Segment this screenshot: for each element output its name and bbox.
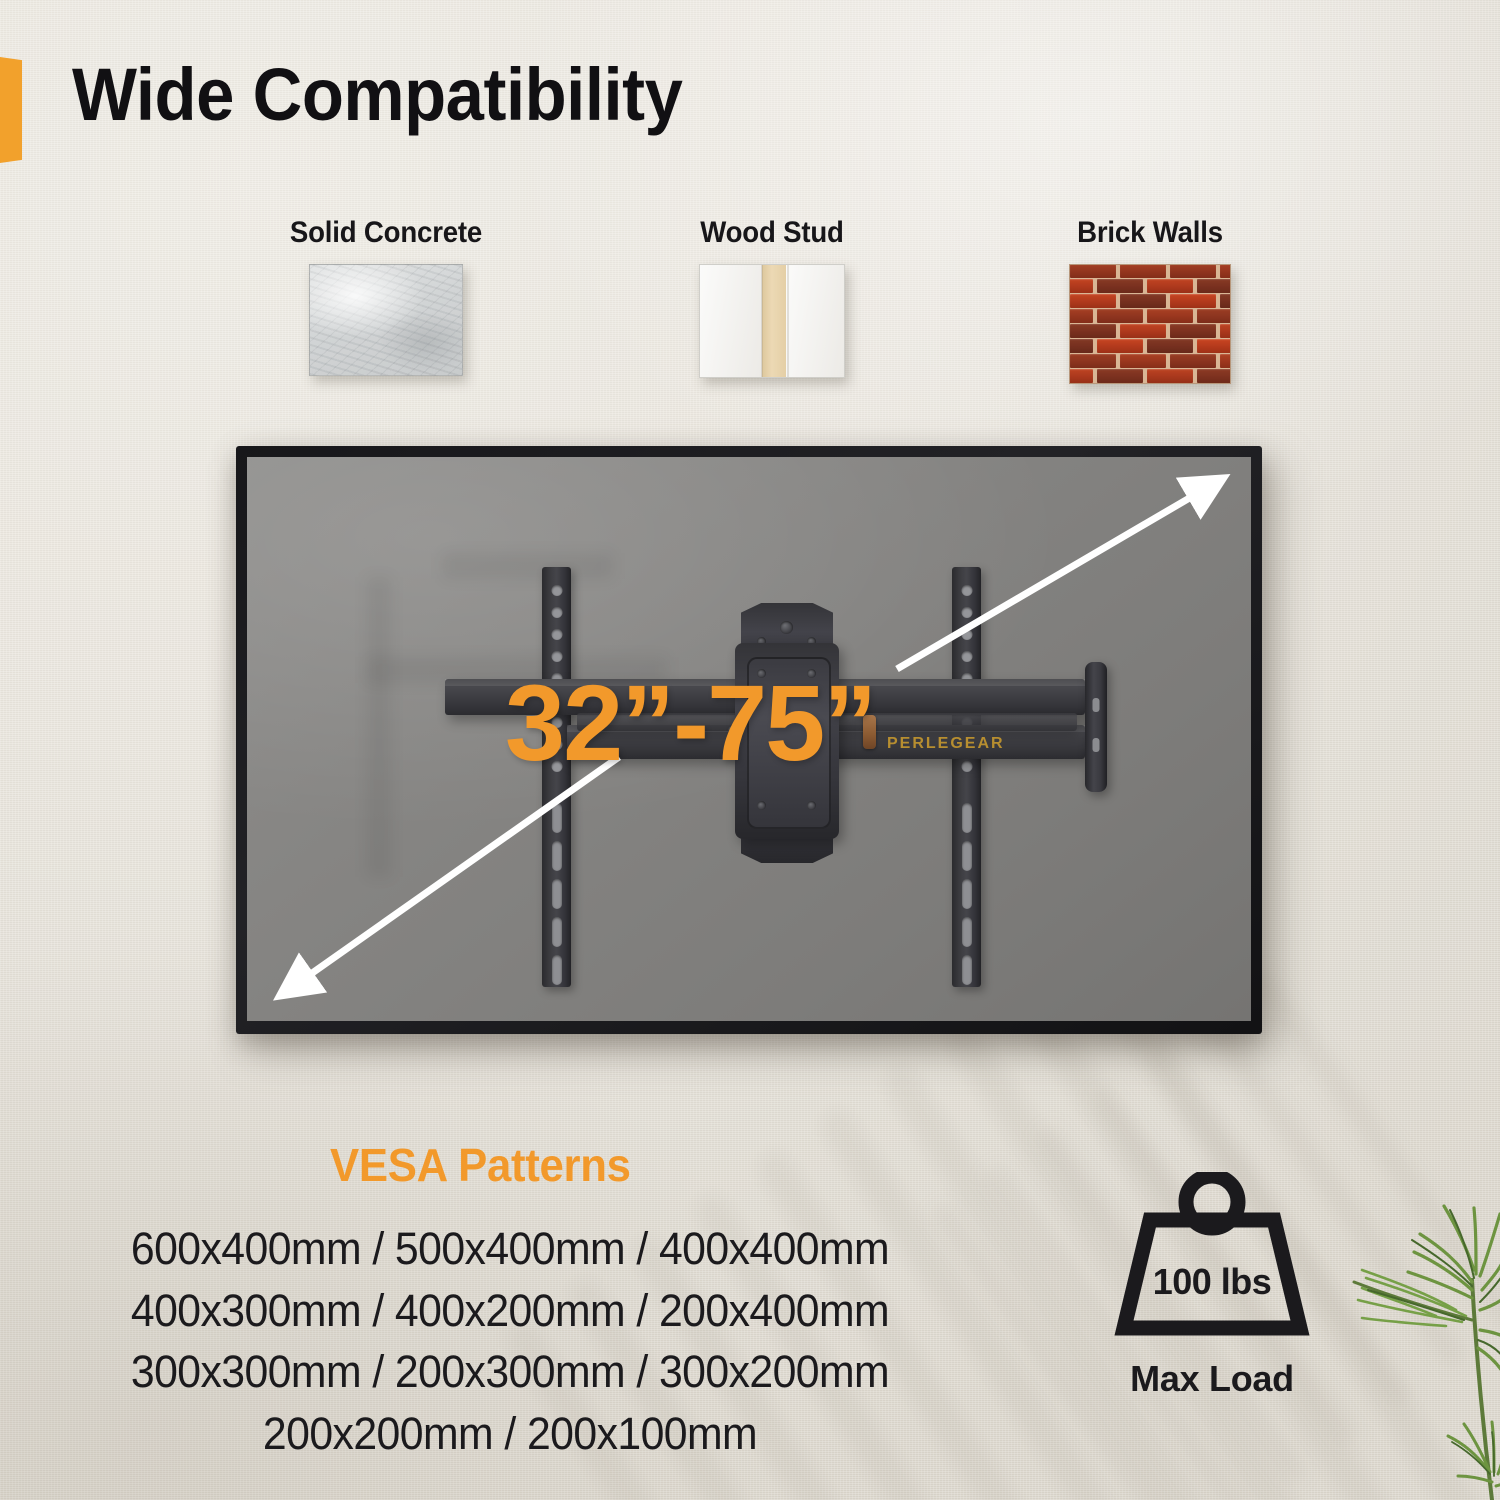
vesa-pattern-line: 600x400mm / 500x400mm / 400x400mm [83, 1218, 938, 1280]
mount-arm-endcap [1085, 662, 1107, 792]
vesa-pattern-line: 400x300mm / 400x200mm / 200x400mm [83, 1280, 938, 1342]
wall-type-label: Wood Stud [634, 216, 910, 250]
brand-label: PERLEGEAR [887, 735, 1005, 753]
weight-icon: 100 lbs [1109, 1172, 1315, 1340]
wall-type-label: Solid Concrete [248, 216, 524, 250]
wall-type-wood-stud: Wood Stud [622, 216, 922, 378]
product-infographic: Wide Compatibility Solid Concrete Wood S… [0, 0, 1500, 1500]
concrete-swatch [309, 264, 463, 376]
vesa-section-title: VESA Patterns [330, 1138, 631, 1192]
wall-type-solid-concrete: Solid Concrete [236, 216, 536, 376]
vesa-pattern-list: 600x400mm / 500x400mm / 400x400mm 400x30… [60, 1218, 960, 1465]
brick-wall-swatch [1069, 264, 1231, 384]
vesa-rail-right [952, 567, 981, 987]
page-title: Wide Compatibility [72, 58, 682, 132]
max-load-value: 100 lbs [1109, 1261, 1315, 1303]
vesa-pattern-line: 200x200mm / 200x100mm [83, 1403, 938, 1465]
orange-accent-bar [0, 57, 22, 163]
palm-plant-decoration [1296, 1170, 1500, 1500]
tv-size-range-caption: 32”-75” [505, 669, 875, 777]
wall-type-row: Solid Concrete Wood Stud Brick Walls [0, 216, 1500, 416]
wall-type-label: Brick Walls [1012, 216, 1288, 250]
wall-type-brick-walls: Brick Walls [1000, 216, 1300, 384]
vesa-pattern-line: 300x300mm / 200x300mm / 300x200mm [83, 1341, 938, 1403]
wood-stud-swatch [699, 264, 845, 378]
